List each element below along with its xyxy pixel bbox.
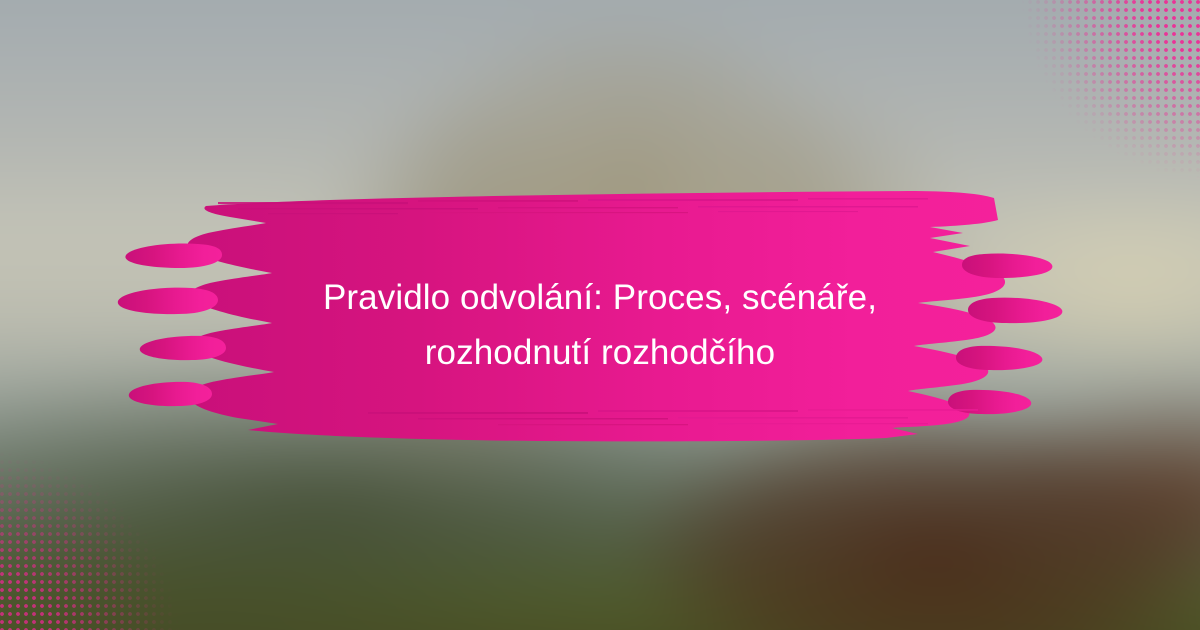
banner-canvas: Pravidlo odvolání: Proces, scénáře, rozh… — [0, 0, 1200, 630]
page-title: Pravidlo odvolání: Proces, scénáře, rozh… — [0, 270, 1200, 380]
